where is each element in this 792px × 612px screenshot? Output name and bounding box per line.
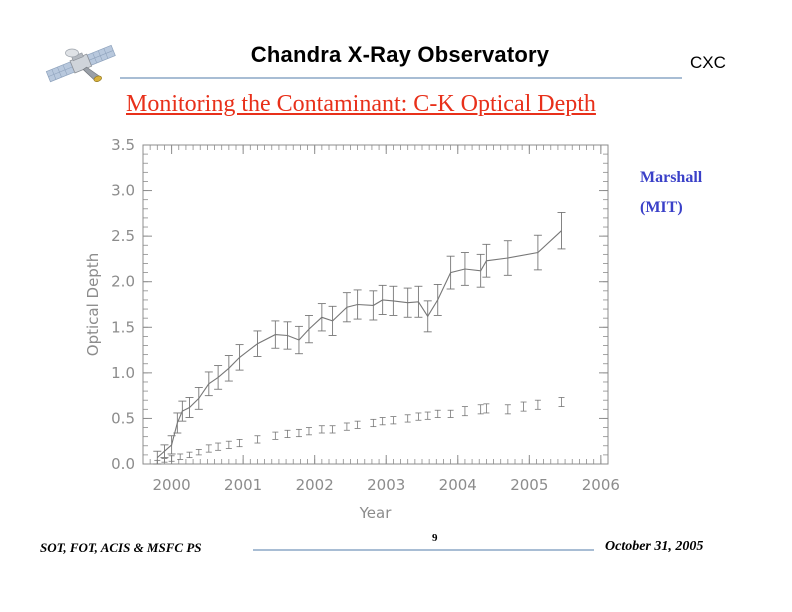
y-axis-label: Optical Depth: [84, 253, 102, 356]
x-axis-label: Year: [359, 504, 393, 522]
x-tick-label: 2004: [439, 476, 477, 494]
header-divider: [120, 77, 682, 79]
x-tick-label: 2001: [224, 476, 262, 494]
y-tick-label: 0.5: [111, 409, 135, 427]
author-annotation: Marshall (MIT): [640, 163, 702, 223]
footer-date: October 31, 2005: [605, 539, 703, 555]
page-number: 9: [432, 532, 438, 544]
y-tick-label: 1.0: [111, 364, 135, 382]
author-affiliation: (MIT): [640, 193, 702, 223]
y-tick-label: 2.0: [111, 273, 135, 291]
x-tick-label: 2002: [296, 476, 334, 494]
x-tick-label: 2000: [153, 476, 191, 494]
org-label: CXC: [690, 53, 726, 73]
satellite-icon: [44, 36, 118, 92]
footer-left: SOT, FOT, ACIS & MSFC PS: [40, 540, 201, 556]
slide-subtitle: Monitoring the Contaminant: C-K Optical …: [126, 91, 726, 118]
slide: Chandra X-Ray Observatory CXC Monitoring…: [0, 0, 792, 612]
optical-depth-chart: 0.00.51.01.52.02.53.03.52000200120022003…: [80, 130, 625, 525]
y-tick-label: 0.0: [111, 455, 135, 473]
y-tick-label: 1.5: [111, 318, 135, 336]
x-tick-label: 2003: [367, 476, 405, 494]
page-title: Chandra X-Ray Observatory: [120, 42, 680, 68]
footer-divider: [253, 549, 594, 551]
author-name: Marshall: [640, 163, 702, 193]
y-tick-label: 2.5: [111, 227, 135, 245]
y-tick-label: 3.0: [111, 182, 135, 200]
x-tick-label: 2005: [510, 476, 548, 494]
chart-canvas: 0.00.51.01.52.02.53.03.52000200120022003…: [80, 130, 625, 525]
y-tick-label: 3.5: [111, 136, 135, 154]
x-tick-label: 2006: [582, 476, 620, 494]
